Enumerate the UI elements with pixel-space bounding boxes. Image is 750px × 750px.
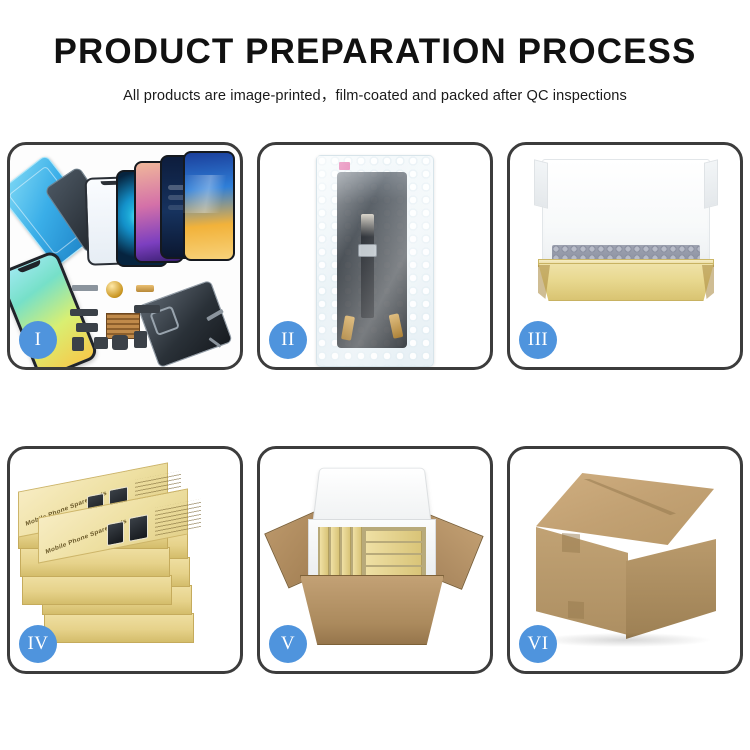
step-badge-6: VI [519, 625, 557, 663]
sim-tray-icon [72, 337, 84, 351]
plastic-gloss-overlay [317, 156, 433, 366]
taptic-engine-icon [112, 335, 128, 350]
step-panel-1[interactable]: I [7, 142, 243, 370]
lid-tab-left-icon [534, 159, 548, 208]
retail-box-layer-5 [44, 613, 194, 643]
step-panel-5[interactable]: V [257, 446, 493, 674]
step-badge-1: I [19, 321, 57, 359]
battery-connector-icon [72, 285, 98, 291]
phone-back-housing-icon [137, 280, 233, 367]
page-header: PRODUCT PREPARATION PROCESS All products… [0, 0, 750, 140]
packed-box-4 [353, 527, 362, 575]
vibrator-icon [94, 337, 108, 349]
packed-box-2 [331, 527, 340, 575]
carton-flap-tab-upper [562, 533, 580, 553]
product-preparation-page: PRODUCT PREPARATION PROCESS All products… [0, 0, 750, 750]
retail-box-rear-3 [22, 575, 172, 605]
page-subtitle: All products are image-printed，film-coat… [123, 84, 627, 105]
carton-shadow [540, 633, 710, 647]
carton-side-face [626, 539, 716, 639]
step-badge-3: III [519, 321, 557, 359]
step-panel-6[interactable]: VI [507, 446, 743, 674]
page-title: PRODUCT PREPARATION PROCESS [54, 34, 697, 71]
flex-cable-icon [70, 309, 98, 316]
lid-tab-right-icon [704, 159, 718, 208]
bubble-wrap-bag-icon [316, 155, 434, 367]
carton-body-icon [300, 575, 444, 645]
step-panel-3[interactable]: III [507, 142, 743, 370]
button-flex-icon [134, 305, 160, 313]
printed-screen-b2 [129, 514, 148, 542]
packed-box-3 [342, 527, 351, 575]
packed-box-flat-2 [366, 543, 422, 553]
step-panel-2[interactable]: II [257, 142, 493, 370]
step-panel-4[interactable]: Mobile Phone Spare Parts Mobile Phone Sp… [7, 446, 243, 674]
printed-screen-b1 [107, 521, 124, 546]
small-part-icon [134, 331, 147, 348]
styrofoam-lid-icon [312, 468, 431, 524]
packed-box-flat-1 [366, 531, 422, 541]
printed-spec-lines-b [155, 499, 201, 536]
packed-box-1 [320, 527, 329, 575]
phone-amber-screen-icon [183, 151, 235, 261]
kraft-tray-icon [538, 263, 714, 301]
gold-flex-icon [136, 285, 154, 292]
packed-box-flat-4 [366, 567, 422, 575]
step-badge-2: II [269, 321, 307, 359]
carton-flap-tab-lower [568, 601, 584, 619]
process-step-grid: I II [7, 142, 743, 690]
speaker-icon [76, 323, 98, 332]
packed-boxes-group [318, 527, 426, 575]
camera-module-icon [106, 281, 123, 298]
packed-box-flat-3 [366, 555, 422, 565]
step-badge-4: IV [19, 625, 57, 663]
step-badge-5: V [269, 625, 307, 663]
